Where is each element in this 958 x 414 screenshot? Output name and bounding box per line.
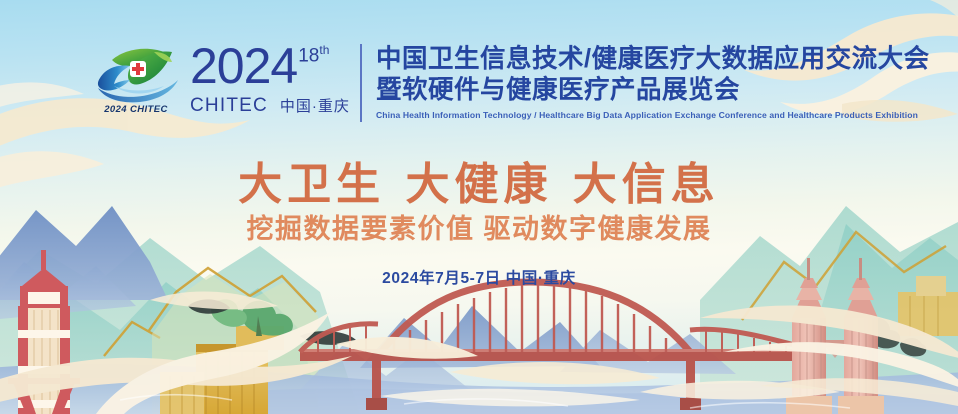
slogan-main: 大卫生 大健康 大信息: [0, 148, 958, 212]
event-date-location: 2024年7月5-7日 中国·重庆: [0, 266, 958, 288]
banner-header: 2024 CHITEC 2024 18th CHITEC 中国·重庆 中国卫生信…: [88, 42, 930, 128]
logo-wordmark: 2024 CHITEC: [92, 104, 180, 115]
conference-banner: 2024 CHITEC 2024 18th CHITEC 中国·重庆 中国卫生信…: [0, 0, 958, 414]
edition-acronym: CHITEC: [190, 95, 268, 117]
slogan-sub: 挖掘数据要素价值 驱动数字健康发展: [0, 207, 958, 246]
edition-location: 中国·重庆: [280, 95, 350, 116]
title-line-1: 中国卫生信息技术/健康医疗大数据应用交流大会: [376, 44, 930, 75]
conference-title: 中国卫生信息技术/健康医疗大数据应用交流大会 暨软硬件与健康医疗产品展览会 Ch…: [376, 42, 930, 120]
title-english: China Health Information Technology / He…: [376, 110, 930, 120]
chitec-logo: 2024 CHITEC: [88, 42, 180, 126]
header-divider: [360, 44, 362, 122]
edition-ordinal: 18th: [298, 44, 329, 65]
edition-block: 2024 18th CHITEC 中国·重庆: [190, 42, 358, 117]
edition-year: 2024: [190, 42, 297, 90]
title-line-2: 暨软硬件与健康医疗产品展览会: [376, 75, 930, 106]
chitec-swoosh-medical-cross-logo: [88, 42, 180, 108]
